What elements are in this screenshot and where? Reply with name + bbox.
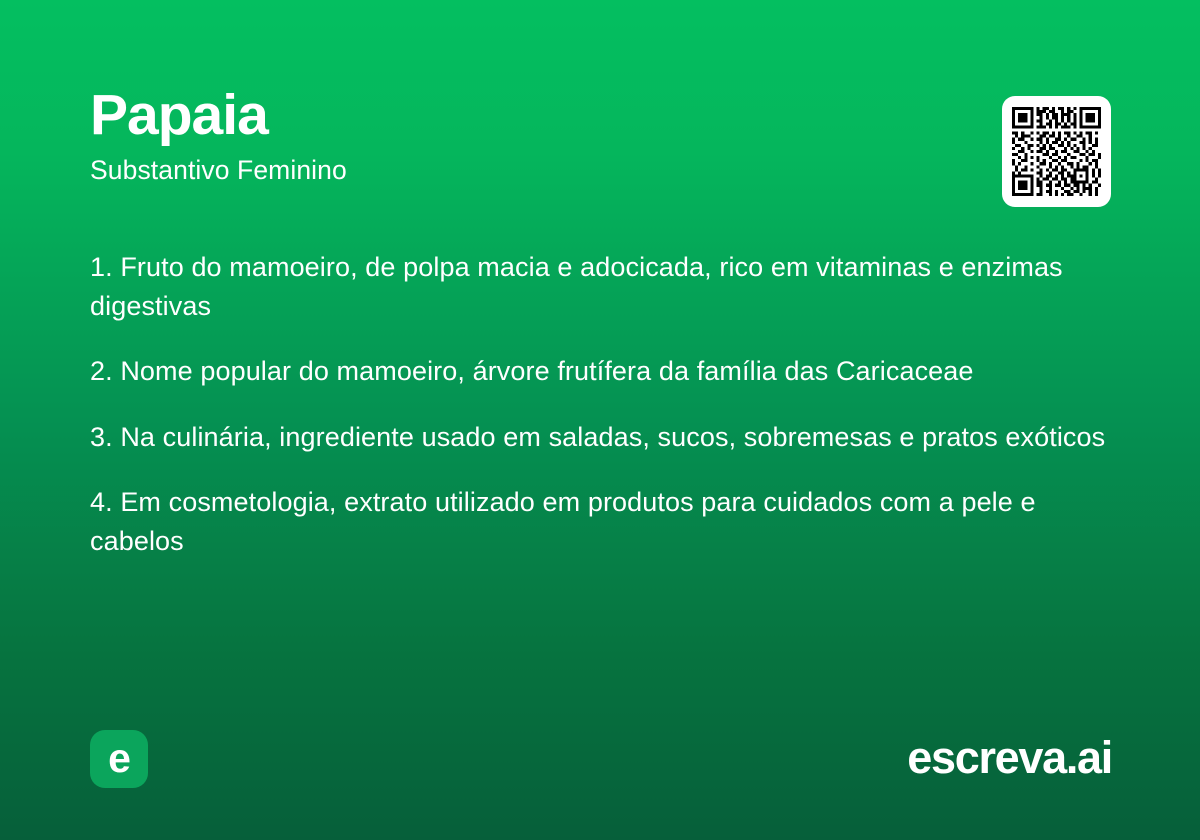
definitions-list: 1. Fruto do mamoeiro, de polpa macia e a… xyxy=(90,248,1120,560)
definition-item: 4. Em cosmetologia, extrato utilizado em… xyxy=(90,483,1120,560)
page-title: Papaia xyxy=(90,86,930,146)
card-header: Papaia Substantivo Feminino xyxy=(90,86,930,187)
definition-item: 1. Fruto do mamoeiro, de polpa macia e a… xyxy=(90,248,1120,325)
brand-wordmark: escreva.ai xyxy=(907,728,1112,789)
definition-item: 3. Na culinária, ingrediente usado em sa… xyxy=(90,418,1120,457)
card-footer: e escreva.ai xyxy=(0,710,1200,840)
dictionary-card: Papaia Substantivo Feminino xyxy=(0,0,1200,840)
qr-code-icon xyxy=(1012,107,1101,196)
qr-code-container[interactable] xyxy=(1002,96,1111,207)
definition-item: 2. Nome popular do mamoeiro, árvore frut… xyxy=(90,352,1120,391)
word-class-label: Substantivo Feminino xyxy=(90,155,930,187)
logo-letter: e xyxy=(108,738,130,779)
escreva-logo-icon[interactable]: e xyxy=(90,730,148,788)
